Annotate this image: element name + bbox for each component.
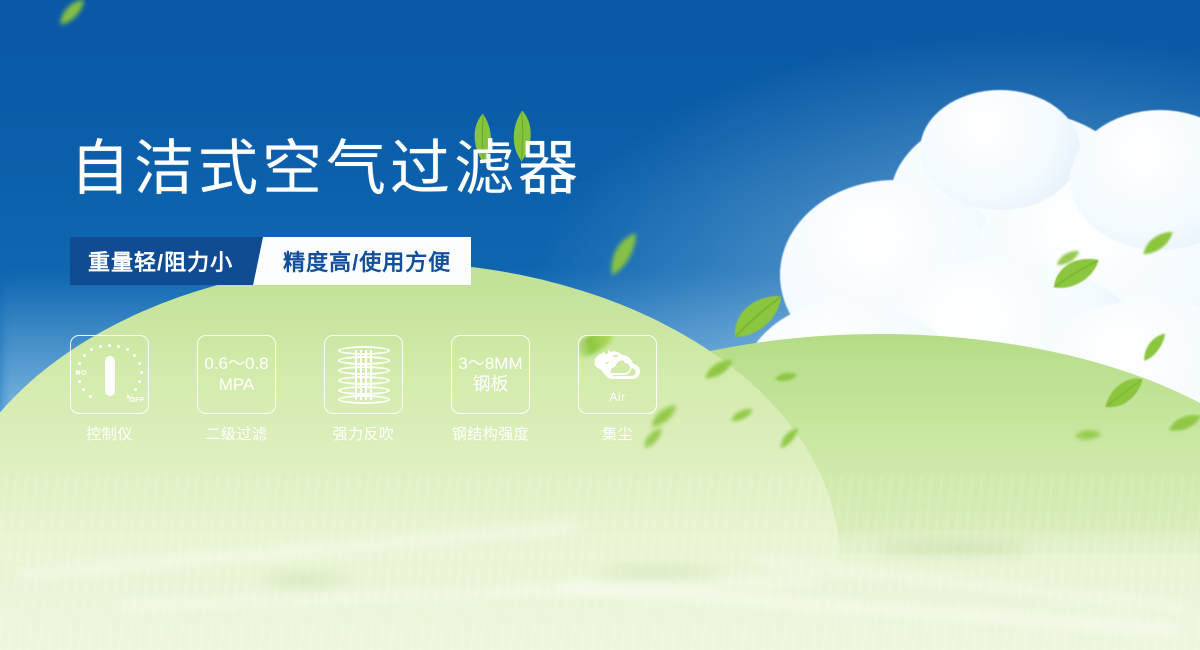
feature-item-back-blow[interactable]: 强力反吹: [324, 335, 403, 444]
steel-line2: 钢板: [458, 374, 522, 395]
hero-banner: 自洁式空气过滤器 重量轻/阻力小 精度高/使用方便 NO OFF: [0, 0, 1200, 650]
subtitle-divider: [253, 237, 279, 285]
feature-item-dust-collection[interactable]: Air 集尘: [578, 335, 657, 444]
leaf-decoration: [1167, 411, 1200, 435]
pressure-line1: 0.6～0.8: [204, 354, 268, 374]
feature-icon-box: 3～8MM 钢板: [451, 335, 530, 414]
feature-icon-box: 0.6～0.8 MPA: [197, 335, 276, 414]
cloud-air-icon: Air: [587, 347, 649, 403]
steel-line1: 3～8MM: [458, 354, 522, 374]
feature-list: NO OFF: [70, 335, 657, 444]
feature-icon-box: NO OFF: [70, 335, 149, 414]
pressure-line2: MPA: [204, 375, 268, 395]
feature-label: 控制仪: [86, 423, 133, 444]
feature-label: 强力反吹: [332, 423, 394, 444]
feature-icon-box: Air: [578, 335, 657, 414]
leaf-decoration: [729, 405, 755, 424]
steel-text-icon: 3～8MM 钢板: [458, 354, 522, 395]
subtitle-left: 重量轻/阻力小: [70, 237, 253, 285]
subtitle-bar: 重量轻/阻力小 精度高/使用方便: [70, 237, 471, 285]
feature-label: 二级过滤: [205, 423, 267, 444]
feature-item-controller[interactable]: NO OFF: [70, 335, 149, 444]
air-label: Air: [587, 390, 649, 404]
gauge-icon: NO OFF: [77, 344, 143, 406]
pressure-text-icon: 0.6～0.8 MPA: [204, 354, 268, 394]
grass-field: [0, 475, 1200, 650]
feature-label: 集尘: [602, 423, 633, 444]
coil-icon: [338, 346, 390, 404]
feature-item-steel-strength[interactable]: 3～8MM 钢板 钢结构强度: [451, 335, 530, 444]
feature-icon-box: [324, 335, 403, 414]
feature-label: 钢结构强度: [452, 423, 530, 444]
gauge-label-off: OFF: [129, 397, 144, 404]
gauge-needle: [105, 356, 115, 396]
feature-item-two-stage-filter[interactable]: 0.6～0.8 MPA 二级过滤: [197, 335, 276, 444]
subtitle-right: 精度高/使用方便: [279, 237, 471, 285]
leaf-decoration: [774, 369, 798, 386]
page-title: 自洁式空气过滤器: [70, 139, 582, 199]
